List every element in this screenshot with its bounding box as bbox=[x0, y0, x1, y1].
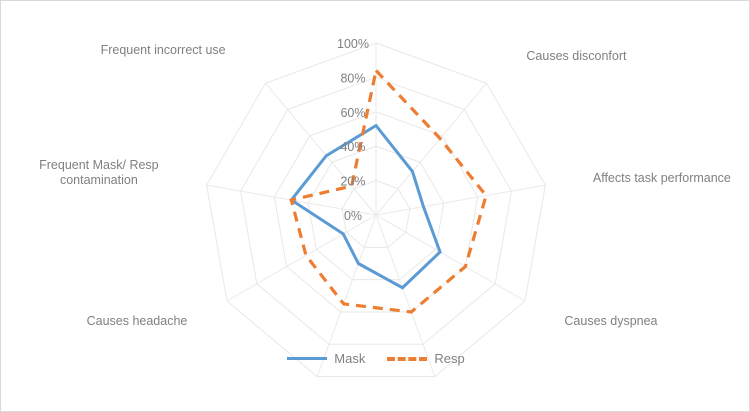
legend-swatch-resp-icon bbox=[387, 357, 427, 361]
legend-item-resp[interactable]: Resp bbox=[387, 351, 464, 366]
radial-tick-0: 0% bbox=[344, 209, 362, 223]
axis-label-text: Causes headache bbox=[87, 314, 188, 328]
axis-label-text-line2: contamination bbox=[60, 173, 138, 187]
legend-label-resp: Resp bbox=[434, 351, 464, 366]
axis-label-causes-disconfort: Causes disconfort bbox=[526, 49, 626, 65]
radial-tick-20: 20% bbox=[340, 175, 365, 189]
radial-tick-60: 60% bbox=[340, 106, 365, 120]
axis-label-text: Frequent incorrect use bbox=[101, 43, 226, 57]
axis-label-causes-headache: Causes headache bbox=[87, 314, 188, 330]
axis-spoke bbox=[376, 215, 525, 301]
axis-label-text: Causes dyspnea bbox=[564, 314, 657, 328]
chart-legend: Mask Resp bbox=[1, 351, 750, 366]
axis-label-frequent-incorrect-use: Frequent incorrect use bbox=[101, 43, 226, 59]
radial-tick-100: 100% bbox=[337, 37, 369, 51]
axis-spoke bbox=[376, 185, 545, 215]
axis-label-frequent-mask-resp-contamination: Frequent Mask/ Resp contamination bbox=[39, 158, 159, 189]
axis-label-text-line1: Frequent Mask/ Resp bbox=[39, 158, 159, 172]
legend-swatch-mask-icon bbox=[287, 357, 327, 360]
axis-spoke bbox=[227, 215, 376, 301]
axis-spoke bbox=[376, 83, 487, 215]
axis-label-text: Adequate protection bbox=[320, 0, 432, 1]
radar-chart-figure: 0%20%40%60%80%100% Adequate protection C… bbox=[0, 0, 750, 412]
legend-label-mask: Mask bbox=[334, 351, 365, 366]
axis-label-causes-dyspnea: Causes dyspnea bbox=[564, 314, 657, 330]
axis-label-adequate-protection: Adequate protection bbox=[320, 0, 432, 3]
axis-label-affects-task-performance: Affects task performance bbox=[593, 171, 731, 187]
radial-tick-80: 80% bbox=[340, 71, 365, 85]
legend-item-mask[interactable]: Mask bbox=[287, 351, 365, 366]
axis-label-text: Affects task performance bbox=[593, 171, 731, 185]
axis-label-text: Causes disconfort bbox=[526, 49, 626, 63]
radial-tick-40: 40% bbox=[340, 140, 365, 154]
